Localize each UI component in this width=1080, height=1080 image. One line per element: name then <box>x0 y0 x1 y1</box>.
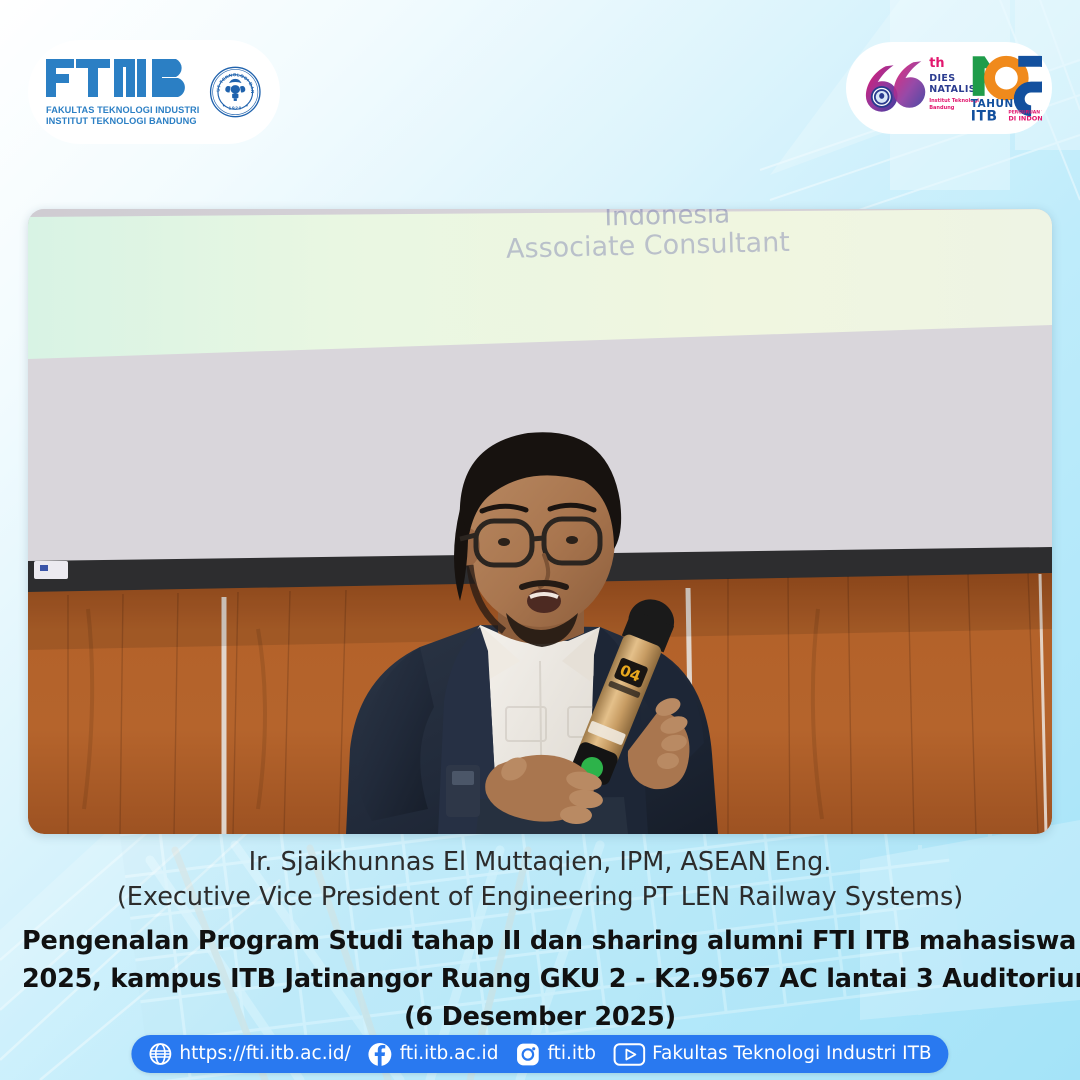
poster-canvas: FAKULTAS TEKNOLOGI INDUSTRI INSTITUT TEK… <box>0 0 1080 1080</box>
youtube-link[interactable]: Fakultas Teknologi Industri ITB <box>613 1043 932 1066</box>
instagram-link[interactable]: fti.itb <box>515 1042 596 1067</box>
facebook-label: fti.itb.ac.id <box>400 1045 499 1064</box>
event-photo-svg: Indonesia Associate Consultant <box>28 209 1052 834</box>
dies-natalis-66-logo: th DIES NATALIS Institut Teknologi Bandu… <box>856 50 1042 126</box>
website-link[interactable]: https://fti.itb.ac.id/ <box>148 1042 350 1066</box>
youtube-label: Fakultas Teknologi Industri ITB <box>652 1045 932 1064</box>
fti-subtitle-line2: INSTITUT TEKNOLOGI BANDUNG <box>46 116 197 127</box>
svg-text:NATALIS: NATALIS <box>929 84 976 95</box>
event-line-2: 2025, kampus ITB Jatinangor Ruang GKU 2 … <box>22 960 1058 998</box>
website-label: https://fti.itb.ac.id/ <box>179 1045 350 1064</box>
event-date: (6 Desember 2025) <box>22 998 1058 1036</box>
fti-wordmark: FAKULTAS TEKNOLOGI INDUSTRI INSTITUT TEK… <box>46 57 199 127</box>
event-line-1: Pengenalan Program Studi tahap II dan sh… <box>22 922 1058 960</box>
svg-text:DI INDONESIA: DI INDONESIA <box>1008 115 1042 123</box>
svg-text:ITB: ITB <box>971 109 998 125</box>
svg-text:th: th <box>929 56 944 71</box>
itb-seal-year: 1920 <box>229 105 242 111</box>
fti-itb-logo: FAKULTAS TEKNOLOGI INDUSTRI INSTITUT TEK… <box>28 40 280 144</box>
speaker-role: (Executive Vice President of Engineering… <box>22 880 1058 915</box>
event-photo: Indonesia Associate Consultant <box>28 209 1052 834</box>
svg-text:Bandung: Bandung <box>929 105 955 111</box>
caption-block: Ir. Sjaikhunnas El Muttaqien, IPM, ASEAN… <box>22 845 1058 1036</box>
anniversary-logos: th DIES NATALIS Institut Teknologi Bandu… <box>846 42 1052 134</box>
instagram-label: fti.itb <box>547 1045 596 1064</box>
speaker-name: Ir. Sjaikhunnas El Muttaqien, IPM, ASEAN… <box>22 845 1058 880</box>
youtube-icon <box>613 1043 645 1066</box>
globe-icon <box>148 1042 172 1066</box>
facebook-link[interactable]: fti.itb.ac.id <box>368 1042 499 1067</box>
event-description: Pengenalan Program Studi tahap II dan sh… <box>22 922 1058 1036</box>
social-media-bar: https://fti.itb.ac.id/ fti.itb.ac.id fti… <box>131 1035 948 1073</box>
fti-subtitle-line1: FAKULTAS TEKNOLOGI INDUSTRI <box>46 105 199 116</box>
fti-letters-icon <box>46 57 198 105</box>
svg-text:DIES: DIES <box>929 73 955 84</box>
itb-seal-icon: INSTITUT TEKNOLOGI BANDUNG 1920 <box>209 51 262 133</box>
instagram-icon <box>515 1042 540 1067</box>
facebook-icon <box>368 1042 393 1067</box>
